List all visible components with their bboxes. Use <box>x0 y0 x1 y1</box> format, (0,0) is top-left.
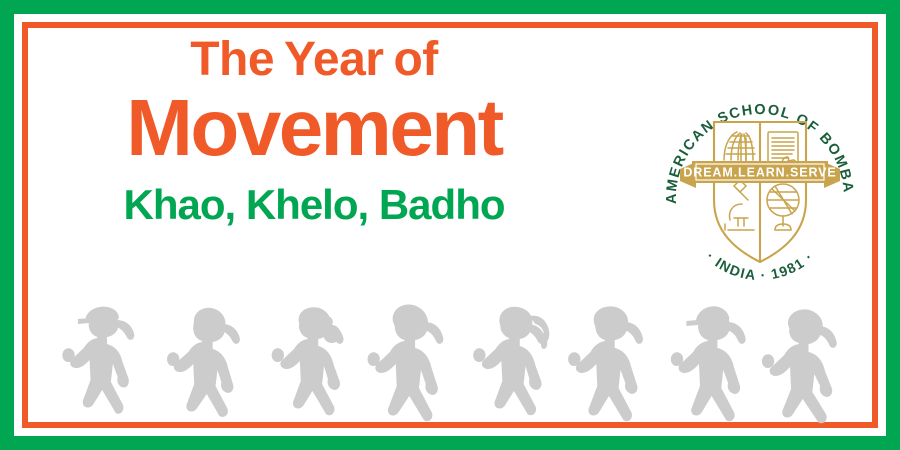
tagline-khao-khelo-badho: Khao, Khelo, Badho <box>14 184 614 226</box>
headline-line-movement: Movement <box>14 88 614 168</box>
logo-ribbon-text: DREAM.LEARN.SERVE <box>683 166 836 180</box>
runner-silhouette <box>167 308 240 417</box>
runner-silhouette <box>473 307 549 416</box>
runner-silhouette <box>368 304 444 421</box>
runner-silhouette <box>671 306 746 421</box>
microscope-emblem <box>725 180 754 230</box>
headline-word-the: The <box>190 33 274 86</box>
runner-silhouette <box>62 307 134 414</box>
runner-silhouette <box>272 307 344 415</box>
poster-banner: TheYearof Movement Khao, Khelo, Badho AM… <box>0 0 900 450</box>
headline-line-the-year-of: TheYearof <box>14 36 614 84</box>
globe-emblem <box>767 184 799 230</box>
poster-content: TheYearof Movement Khao, Khelo, Badho AM… <box>14 14 886 436</box>
american-school-of-bombay-logo: AMERICAN SCHOOL OF BOMBAY <box>662 72 858 288</box>
headline-word-of: of <box>393 33 437 86</box>
runner-silhouette <box>568 306 643 421</box>
runner-silhouette <box>762 309 837 423</box>
running-children-silhouettes <box>14 296 886 436</box>
headline-word-year: Year <box>284 33 383 86</box>
headline-block: TheYearof Movement Khao, Khelo, Badho <box>14 36 614 226</box>
